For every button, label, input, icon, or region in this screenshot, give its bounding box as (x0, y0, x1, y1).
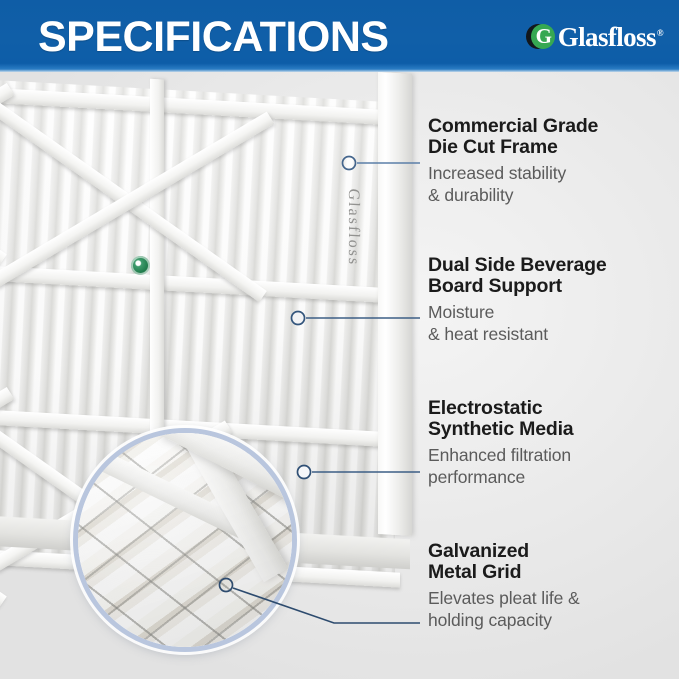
filter-center-logo-mark (131, 256, 150, 275)
logo-letter-g: G (533, 24, 555, 49)
callout-title-line-2: Die Cut Frame (428, 136, 558, 158)
infographic-canvas: Glasfloss Comm (0, 0, 679, 679)
callout-subtitle: Increased stability & durability (428, 162, 676, 206)
callout-electrostatic-synthetic-media: Electrostatic Synthetic Media Enhanced f… (428, 398, 676, 488)
grid-bar-horizontal (0, 257, 400, 303)
callout-sub-line-1: Increased stability (428, 163, 566, 183)
callout-title: Electrostatic Synthetic Media (428, 398, 676, 440)
callout-title-line-1: Electrostatic (428, 397, 542, 419)
callout-sub-line-2: & durability (428, 185, 513, 205)
callout-sub-line-2: & heat resistant (428, 324, 548, 344)
callout-title: Galvanized Metal Grid (428, 541, 676, 583)
callout-commercial-grade-die-cut-frame: Commercial Grade Die Cut Frame Increased… (428, 116, 676, 206)
magnifier-glass-shading (78, 433, 292, 647)
callout-galvanized-metal-grid: Galvanized Metal Grid Elevates pleat lif… (428, 541, 676, 631)
brand-name-text: Glasfloss (558, 22, 656, 52)
callout-title: Commercial Grade Die Cut Frame (428, 116, 676, 158)
callout-sub-line-2: performance (428, 467, 525, 487)
registered-trademark-mark: ® (657, 28, 663, 38)
brand-logo: G Glasfloss® (526, 20, 663, 54)
callout-title-line-2: Metal Grid (428, 561, 521, 583)
callout-subtitle: Moisture & heat resistant (428, 301, 676, 345)
callout-title-line-1: Commercial Grade (428, 115, 598, 137)
grid-bar-horizontal (0, 79, 400, 125)
callout-subtitle: Elevates pleat life & holding capacity (428, 587, 676, 631)
callout-dual-side-beverage-board-support: Dual Side Beverage Board Support Moistur… (428, 255, 676, 345)
frame-brand-label: Glasfloss (344, 188, 362, 339)
brand-name: Glasfloss® (558, 22, 663, 53)
callout-title-line-2: Synthetic Media (428, 418, 573, 440)
callout-sub-line-2: holding capacity (428, 610, 552, 630)
magnified-detail-circle (73, 428, 297, 652)
callout-sub-line-1: Moisture (428, 302, 494, 322)
glasfloss-logo-icon: G (526, 22, 556, 52)
header-bar: SPECIFICATIONS G Glasfloss® (0, 0, 679, 72)
callout-sub-line-1: Enhanced filtration (428, 445, 571, 465)
callout-title-line-1: Dual Side Beverage (428, 254, 606, 276)
page-title: SPECIFICATIONS (38, 13, 389, 62)
callout-title-line-2: Board Support (428, 275, 562, 297)
callout-title: Dual Side Beverage Board Support (428, 255, 676, 297)
callout-title-line-1: Galvanized (428, 540, 529, 562)
die-cut-frame-edge: Glasfloss (378, 72, 412, 536)
callout-sub-line-1: Elevates pleat life & (428, 588, 580, 608)
callout-subtitle: Enhanced filtration performance (428, 444, 676, 488)
